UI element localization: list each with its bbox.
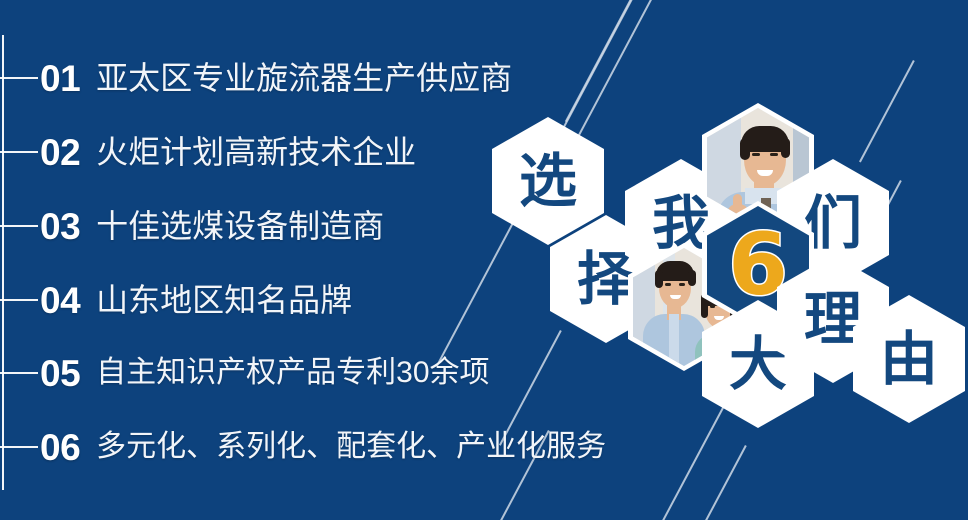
list-item-number: 01: [40, 60, 80, 97]
list-item-label: 亚太区专业旋流器生产供应商: [96, 62, 512, 94]
list-item: 03 十佳选煤设备制造商: [0, 198, 384, 254]
list-item-number: 06: [40, 429, 80, 466]
list-item-number: 03: [40, 208, 80, 245]
hexagon-inner: 由: [858, 300, 960, 418]
list-item-label: 十佳选煤设备制造商: [96, 210, 384, 242]
list-item: 04 山东地区知名品牌: [0, 272, 352, 328]
diagonal-streak: [700, 445, 746, 520]
tick-mark-icon: [0, 225, 38, 227]
tick-mark-icon: [0, 151, 38, 153]
list-item-number: 04: [40, 282, 80, 319]
list-item: 05 自主知识产权产品专利30余项: [0, 345, 490, 401]
banner-canvas: 01 亚太区专业旋流器生产供应商 02 火炬计划高新技术企业 03 十佳选煤设备…: [0, 0, 968, 520]
list-item: 06 多元化、系列化、配套化、产业化服务: [0, 419, 606, 475]
list-item-label: 多元化、系列化、配套化、产业化服务: [96, 432, 606, 462]
hexagon-glyph: 择: [577, 250, 635, 308]
tick-mark-icon: [0, 77, 38, 79]
hexagon-glyph: 选: [519, 152, 577, 210]
tick-mark-icon: [0, 299, 38, 301]
list-item: 02 火炬计划高新技术企业: [0, 124, 416, 180]
hexagon-glyph: 我: [652, 194, 710, 252]
hexagon-glyph: 由: [880, 330, 938, 388]
list-item-label: 自主知识产权产品专利30余项: [96, 358, 489, 388]
list-item-label: 火炬计划高新技术企业: [96, 136, 416, 168]
list-item-number: 05: [40, 355, 80, 392]
list-item-number: 02: [40, 134, 80, 171]
tick-mark-icon: [0, 372, 38, 374]
tick-mark-icon: [0, 446, 38, 448]
list-item: 01 亚太区专业旋流器生产供应商: [0, 50, 512, 106]
hexagon-cluster: 选 择 我: [470, 95, 968, 425]
hexagon-inner: 选: [497, 122, 599, 240]
list-item-label: 山东地区知名品牌: [96, 284, 352, 316]
